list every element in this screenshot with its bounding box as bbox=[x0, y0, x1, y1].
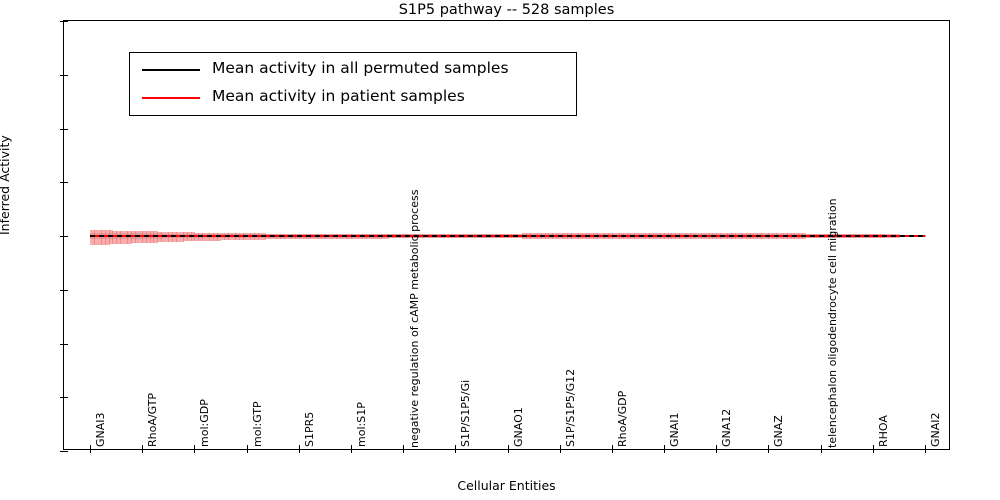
x-tick-mark-inner bbox=[299, 445, 300, 449]
y-tick-mark-inner bbox=[64, 451, 68, 452]
x-tick-label: GNAZ bbox=[772, 415, 785, 447]
permuted-line-dash bbox=[774, 235, 779, 237]
permuted-line-dash bbox=[477, 235, 482, 237]
x-tick-mark bbox=[612, 449, 613, 453]
permuted-line-dash bbox=[144, 235, 149, 237]
x-tick-mark bbox=[560, 449, 561, 453]
permuted-line-dash bbox=[513, 235, 518, 237]
y-tick-mark-inner bbox=[64, 129, 68, 130]
permuted-line-dash bbox=[288, 235, 293, 237]
permuted-line-dash bbox=[207, 235, 212, 237]
permuted-line-dash bbox=[378, 235, 383, 237]
x-tick-mark-inner bbox=[716, 445, 717, 449]
permuted-line-dash bbox=[306, 235, 311, 237]
x-tick-label: GNAI1 bbox=[668, 412, 681, 447]
permuted-line-dash bbox=[756, 235, 761, 237]
x-tick-mark-inner bbox=[768, 445, 769, 449]
permuted-line-dash bbox=[873, 235, 878, 237]
x-tick-mark bbox=[821, 449, 822, 453]
permuted-line-dash bbox=[324, 235, 329, 237]
permuted-line-dash bbox=[738, 235, 743, 237]
permuted-line-dash bbox=[198, 235, 203, 237]
permuted-line-dash bbox=[432, 235, 437, 237]
permuted-line-dash bbox=[90, 235, 95, 237]
x-tick-label: GNAI3 bbox=[94, 412, 107, 447]
x-tick-mark bbox=[299, 449, 300, 453]
permuted-line-dash bbox=[819, 235, 824, 237]
x-tick-mark bbox=[873, 449, 874, 453]
permuted-line-dash bbox=[252, 235, 257, 237]
x-tick-mark-inner bbox=[142, 445, 143, 449]
x-tick-label: mol:GTP bbox=[251, 401, 264, 447]
permuted-line-dash bbox=[585, 235, 590, 237]
permuted-line-dash bbox=[360, 235, 365, 237]
x-tick-mark-inner bbox=[612, 445, 613, 449]
x-tick-mark bbox=[351, 449, 352, 453]
legend-swatch-permuted bbox=[142, 69, 200, 71]
x-tick-mark-inner bbox=[194, 445, 195, 449]
permuted-line-dash bbox=[720, 235, 725, 237]
y-tick-mark-inner bbox=[64, 344, 68, 345]
legend-label-patient: Mean activity in patient samples bbox=[212, 87, 465, 105]
permuted-line-dash bbox=[648, 235, 653, 237]
permuted-line-dash bbox=[909, 235, 914, 237]
x-tick-mark bbox=[925, 449, 926, 453]
permuted-line-dash bbox=[216, 235, 221, 237]
x-tick-label: RHOA bbox=[877, 415, 890, 447]
permuted-line-dash bbox=[765, 235, 770, 237]
permuted-line-dash bbox=[846, 235, 851, 237]
x-tick-mark-inner bbox=[873, 445, 874, 449]
permuted-line-dash bbox=[747, 235, 752, 237]
x-tick-mark bbox=[90, 449, 91, 453]
permuted-line-dash bbox=[423, 235, 428, 237]
x-tick-mark bbox=[664, 449, 665, 453]
permuted-line-dash bbox=[108, 235, 113, 237]
x-tick-mark bbox=[455, 449, 456, 453]
permuted-line-dash bbox=[864, 235, 869, 237]
legend-entry-patient: Mean activity in patient samples bbox=[130, 84, 576, 112]
x-tick-mark bbox=[716, 449, 717, 453]
permuted-line-dash bbox=[918, 235, 923, 237]
permuted-line-dash bbox=[540, 235, 545, 237]
x-tick-label: mol:S1P bbox=[355, 402, 368, 447]
x-tick-mark-inner bbox=[455, 445, 456, 449]
plot-area: negative regulation of cAMP metabolic pr… bbox=[63, 20, 950, 450]
permuted-line-dash bbox=[657, 235, 662, 237]
permuted-line-dash bbox=[441, 235, 446, 237]
permuted-line-dash bbox=[612, 235, 617, 237]
permuted-line-dash bbox=[639, 235, 644, 237]
chart-legend: Mean activity in all permuted samples Me… bbox=[129, 52, 577, 116]
permuted-line-dash bbox=[576, 235, 581, 237]
x-tick-mark bbox=[508, 449, 509, 453]
y-tick-mark-inner bbox=[64, 236, 68, 237]
x-tick-mark-inner bbox=[351, 445, 352, 449]
x-tick-label: RhoA/GTP bbox=[146, 393, 159, 447]
x-tick-mark-inner bbox=[664, 445, 665, 449]
permuted-line-dash bbox=[891, 235, 896, 237]
permuted-line-dash bbox=[126, 235, 131, 237]
permuted-line-dash bbox=[594, 235, 599, 237]
permuted-line-dash bbox=[504, 235, 509, 237]
legend-swatch-patient bbox=[142, 97, 200, 99]
permuted-line-dash bbox=[855, 235, 860, 237]
y-tick-mark-inner bbox=[64, 182, 68, 183]
permuted-line-dash bbox=[387, 235, 392, 237]
permuted-line-dash bbox=[630, 235, 635, 237]
x-tick-label: GNAI2 bbox=[929, 412, 942, 447]
y-tick-mark-inner bbox=[64, 21, 68, 22]
permuted-line-dash bbox=[297, 235, 302, 237]
x-tick-mark-inner bbox=[247, 445, 248, 449]
permuted-line-dash bbox=[396, 235, 401, 237]
permuted-line-dash bbox=[522, 235, 527, 237]
permuted-line-dash bbox=[603, 235, 608, 237]
permuted-line-dash bbox=[234, 235, 239, 237]
permuted-line-dash bbox=[729, 235, 734, 237]
permuted-line-dash bbox=[342, 235, 347, 237]
permuted-line-dash bbox=[621, 235, 626, 237]
permuted-line-dash bbox=[783, 235, 788, 237]
x-tick-mark-inner bbox=[925, 445, 926, 449]
x-tick-label-long: telencephalon oligodendrocyte cell migra… bbox=[826, 198, 839, 448]
permuted-line-dash bbox=[99, 235, 104, 237]
x-tick-mark-inner bbox=[560, 445, 561, 449]
permuted-line-dash bbox=[135, 235, 140, 237]
permuted-line-dash bbox=[153, 235, 158, 237]
permuted-line-dash bbox=[495, 235, 500, 237]
permuted-line-dash bbox=[450, 235, 455, 237]
y-tick-mark-inner bbox=[64, 290, 68, 291]
permuted-line-dash bbox=[315, 235, 320, 237]
legend-label-permuted: Mean activity in all permuted samples bbox=[212, 59, 509, 77]
permuted-line-dash bbox=[243, 235, 248, 237]
x-tick-label: mol:GDP bbox=[198, 399, 211, 447]
permuted-line-dash bbox=[666, 235, 671, 237]
permuted-line-dash bbox=[801, 235, 806, 237]
permuted-line-dash bbox=[459, 235, 464, 237]
permuted-line-dash bbox=[486, 235, 491, 237]
x-tick-mark bbox=[142, 449, 143, 453]
x-tick-label: GNA12 bbox=[720, 409, 733, 447]
x-tick-mark bbox=[194, 449, 195, 453]
permuted-line-dash bbox=[900, 235, 905, 237]
x-tick-label-long: negative regulation of cAMP metabolic pr… bbox=[408, 190, 421, 448]
x-tick-label: S1P/S1P5/G12 bbox=[564, 369, 577, 447]
permuted-line-dash bbox=[882, 235, 887, 237]
legend-entry-permuted: Mean activity in all permuted samples bbox=[130, 56, 576, 84]
permuted-line-dash bbox=[567, 235, 572, 237]
x-tick-mark-inner bbox=[508, 445, 509, 449]
permuted-line-dash bbox=[225, 235, 230, 237]
permuted-line-dash bbox=[711, 235, 716, 237]
permuted-line-dash bbox=[693, 235, 698, 237]
chart-title: S1P5 pathway -- 528 samples bbox=[63, 2, 950, 18]
permuted-line-dash bbox=[189, 235, 194, 237]
x-tick-label: RhoA/GDP bbox=[616, 391, 629, 447]
permuted-line-dash bbox=[180, 235, 185, 237]
x-tick-mark bbox=[768, 449, 769, 453]
x-tick-mark bbox=[403, 449, 404, 453]
permuted-line-dash bbox=[792, 235, 797, 237]
permuted-line-dash bbox=[810, 235, 815, 237]
permuted-line-dash bbox=[468, 235, 473, 237]
x-tick-mark-inner bbox=[821, 445, 822, 449]
x-tick-label: S1P/S1P5/Gi bbox=[459, 380, 472, 447]
y-axis-label: Inferred Activity bbox=[0, 35, 12, 235]
x-tick-mark-inner bbox=[90, 445, 91, 449]
permuted-line-dash bbox=[261, 235, 266, 237]
permuted-line-dash bbox=[171, 235, 176, 237]
x-tick-label: S1PR5 bbox=[303, 412, 316, 447]
permuted-line-dash bbox=[558, 235, 563, 237]
permuted-line-dash bbox=[279, 235, 284, 237]
permuted-line-dash bbox=[702, 235, 707, 237]
permuted-line-dash bbox=[270, 235, 275, 237]
permuted-line-dash bbox=[333, 235, 338, 237]
y-tick-mark-inner bbox=[64, 397, 68, 398]
permuted-line-dash bbox=[369, 235, 374, 237]
x-tick-mark-inner bbox=[403, 445, 404, 449]
permuted-line-dash bbox=[675, 235, 680, 237]
permuted-line-dash bbox=[531, 235, 536, 237]
x-tick-label: GNAO1 bbox=[512, 407, 525, 447]
chart-figure: S1P5 pathway -- 528 samples Inferred Act… bbox=[0, 0, 1000, 500]
permuted-line-dash bbox=[684, 235, 689, 237]
permuted-line-dash bbox=[117, 235, 122, 237]
x-tick-mark bbox=[247, 449, 248, 453]
permuted-line-dash bbox=[162, 235, 167, 237]
permuted-line-dash bbox=[351, 235, 356, 237]
x-axis-label: Cellular Entities bbox=[63, 478, 950, 493]
permuted-line-dash bbox=[549, 235, 554, 237]
y-tick-mark-inner bbox=[64, 75, 68, 76]
